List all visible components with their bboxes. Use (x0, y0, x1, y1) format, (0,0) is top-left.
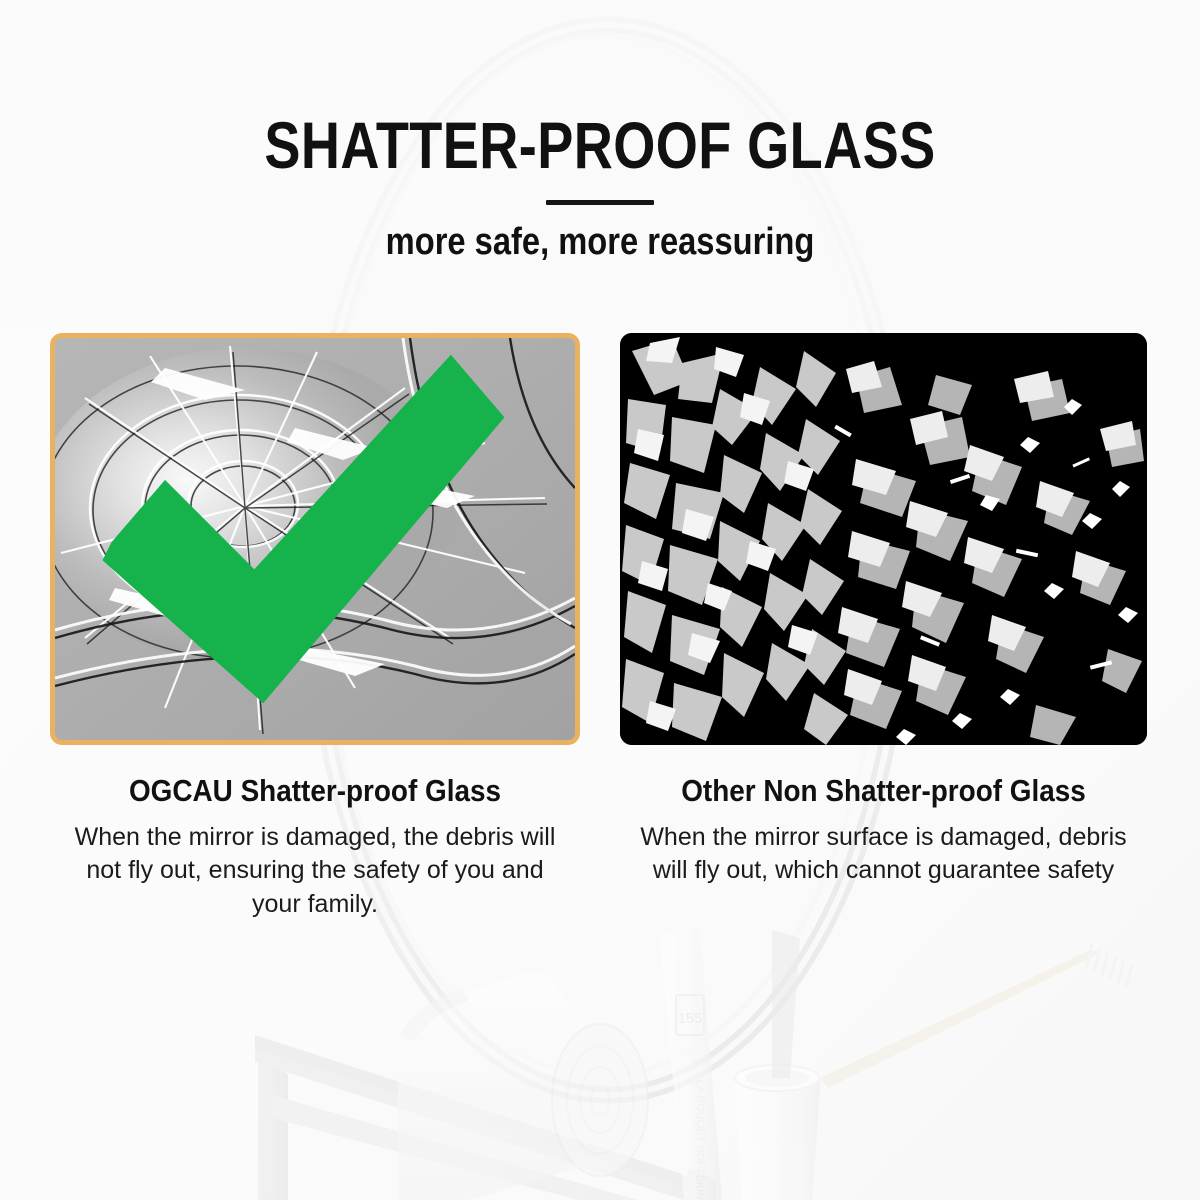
caption-body-good: When the mirror is damaged, the debris w… (65, 821, 565, 921)
check-icon (50, 333, 559, 730)
infographic-root: 155 LA BOUQET SOFTSKIN (0, 0, 1200, 1200)
page-subtitle: more safe, more reassuring (84, 221, 1116, 264)
header: SHATTER-PROOF GLASS more safe, more reas… (0, 0, 1200, 264)
photo-shatterproof-glass (50, 333, 580, 745)
comparison-panel-bad: Other Non Shatter-proof Glass When the m… (620, 333, 1147, 888)
caption-body-bad: When the mirror surface is damaged, debr… (636, 821, 1131, 888)
caption-bad: Other Non Shatter-proof Glass When the m… (620, 773, 1147, 888)
flying-shards-illustration (620, 333, 1147, 745)
photo-non-shatterproof-glass (620, 333, 1147, 745)
caption-good: OGCAU Shatter-proof Glass When the mirro… (50, 773, 580, 921)
caption-title-good: OGCAU Shatter-proof Glass (77, 773, 554, 809)
caption-title-bad: Other Non Shatter-proof Glass (646, 773, 1120, 809)
page-title: SHATTER-PROOF GLASS (108, 0, 1092, 178)
comparison-panel-good: OGCAU Shatter-proof Glass When the mirro… (50, 333, 580, 921)
title-divider (546, 200, 654, 205)
